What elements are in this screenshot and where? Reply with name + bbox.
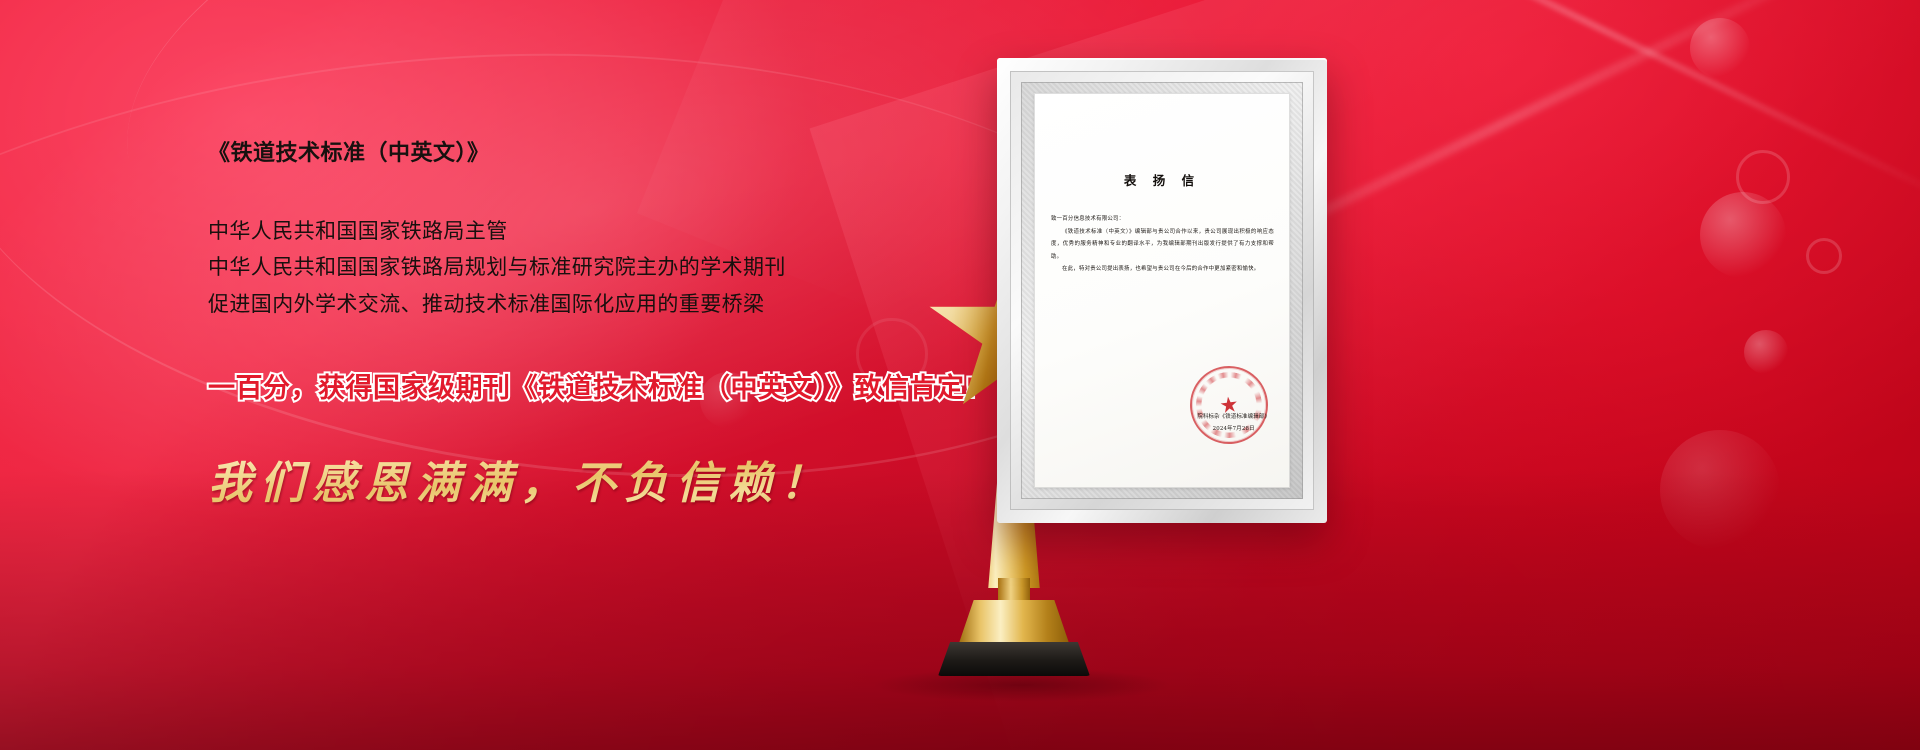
headline-text: 一百分，获得国家级期刊《铁道技术标准（中英文）》致信肯定! — [208, 366, 968, 405]
promo-banner: 《铁道技术标准（中英文）》 中华人民共和国国家铁路局主管 中华人民共和国国家铁路… — [0, 0, 1920, 750]
certificate-salutation: 致一百分信息技术有限公司： — [1051, 213, 1274, 226]
description-line-2: 中华人民共和国国家铁路局规划与标准研究院主办的学术期刊 — [208, 249, 968, 286]
certificate-paragraph-1: 《铁道技术标准（中英文）》编辑部与贵公司合作以来，贵公司展现出积极的响应态度，优… — [1051, 226, 1274, 264]
journal-title: 《铁道技术标准（中英文）》 — [208, 140, 968, 169]
bokeh-circle — [1700, 192, 1786, 278]
bokeh-circle — [1806, 238, 1842, 274]
certificate-signature: 院科标杂《铁道标准编辑部》 2024年7月28日 — [1197, 412, 1270, 436]
bokeh-circle — [1744, 330, 1788, 374]
trophy-base — [938, 642, 1090, 676]
description-line-1: 中华人民共和国国家铁路局主管 — [208, 213, 968, 250]
left-text-column: 《铁道技术标准（中英文）》 中华人民共和国国家铁路局主管 中华人民共和国国家铁路… — [208, 140, 968, 511]
description-line-3: 促进国内外学术交流、推动技术标准国际化应用的重要桥梁 — [208, 286, 968, 323]
bokeh-circle — [1736, 150, 1790, 204]
certificate-body: 致一百分信息技术有限公司： 《铁道技术标准（中英文）》编辑部与贵公司合作以来，贵… — [1051, 213, 1274, 276]
certificate-paragraph-2: 在此，特对贵公司提出表扬，也希望与贵公司在今后的合作中更加紧密和愉快。 — [1051, 263, 1274, 276]
signature-organization: 院科标杂《铁道标准编辑部》 — [1197, 412, 1270, 424]
journal-description: 中华人民共和国国家铁路局主管 中华人民共和国国家铁路局规划与标准研究院主办的学术… — [208, 213, 968, 323]
signature-date: 2024年7月28日 — [1197, 424, 1270, 436]
certificate-paper: 表 扬 信 致一百分信息技术有限公司： 《铁道技术标准（中英文）》编辑部与贵公司… — [1034, 93, 1290, 488]
calligraphy-slogan: 我们感恩满满，不负信赖！ — [208, 447, 968, 511]
trophy-pedestal — [958, 600, 1070, 646]
bokeh-circle — [1690, 18, 1750, 78]
certificate-frame: 表 扬 信 致一百分信息技术有限公司： 《铁道技术标准（中英文）》编辑部与贵公司… — [997, 58, 1327, 523]
certificate-title: 表 扬 信 — [1034, 170, 1290, 189]
